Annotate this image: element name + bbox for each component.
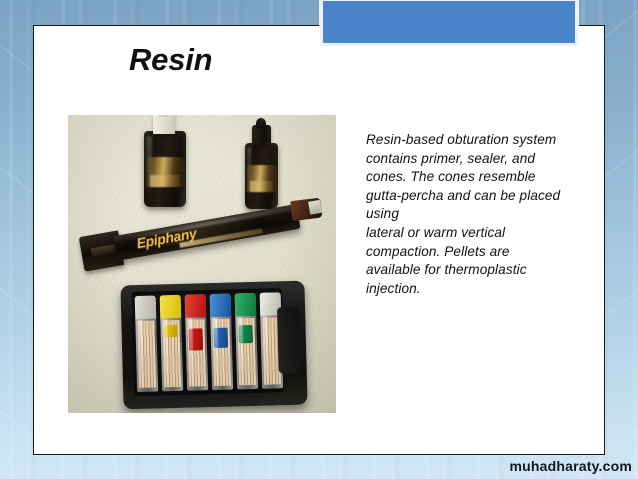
presentation-slide: Resin Epiphany: [0, 0, 638, 479]
page-title: Resin: [129, 44, 212, 75]
header-accent-rectangle: [320, 0, 578, 46]
photo-vignette: [68, 115, 336, 413]
product-photo: Epiphany: [68, 115, 336, 413]
watermark-footer: muhadharaty.com: [509, 458, 632, 474]
body-paragraph: Resin-based obturation system contains p…: [366, 131, 562, 298]
